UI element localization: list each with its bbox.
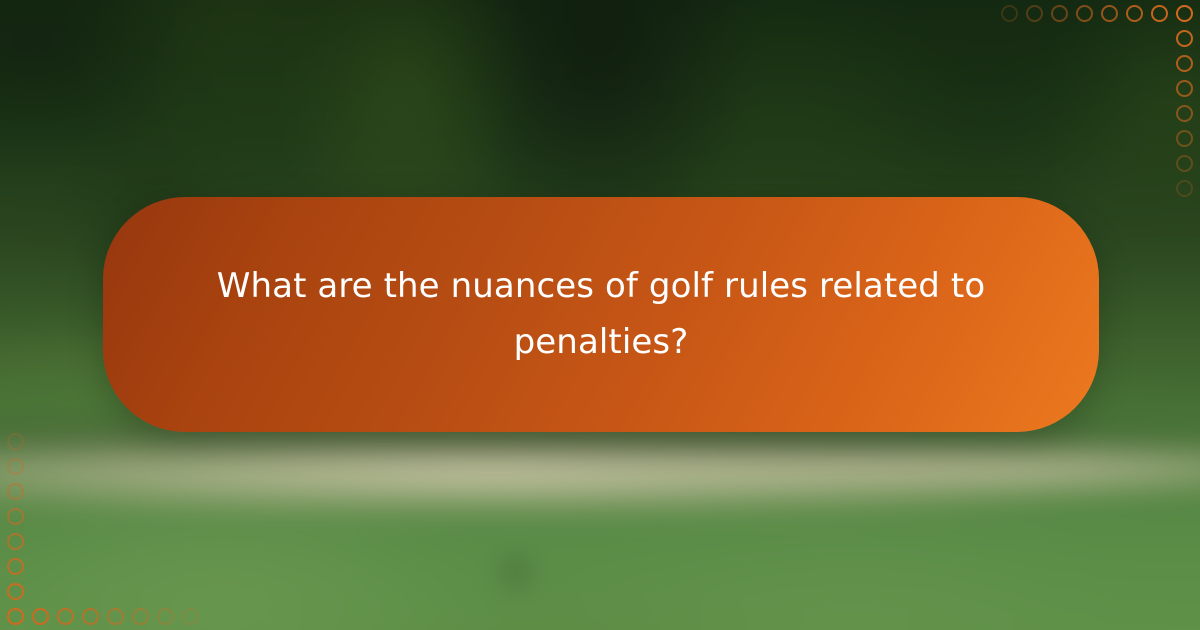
question-card: What are the nuances of golf rules relat…: [103, 197, 1099, 432]
slide-canvas: What are the nuances of golf rules relat…: [0, 0, 1200, 630]
question-text: What are the nuances of golf rules relat…: [196, 259, 1006, 369]
